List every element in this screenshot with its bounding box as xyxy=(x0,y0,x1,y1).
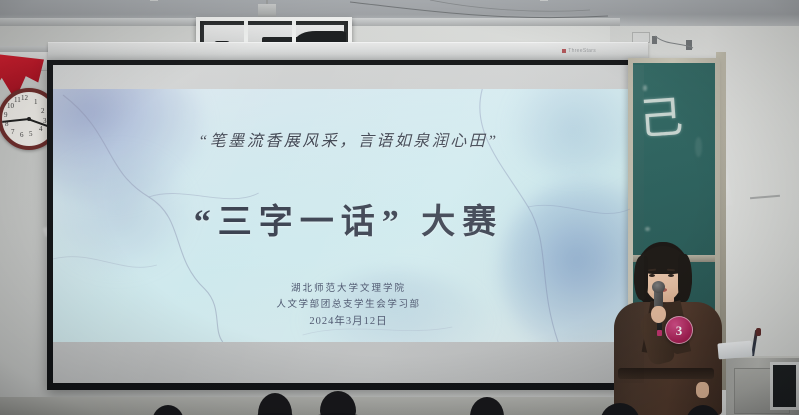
chalk-smudge xyxy=(645,227,650,231)
ceiling-wire-icon xyxy=(350,0,610,26)
projector-screen: “笔墨流香展风采，言语如泉润心田” “三字一话” 大赛 湖北师范大学文理学院 人… xyxy=(47,60,649,390)
clock-tick-7: 7 xyxy=(11,129,15,136)
clock-tick-6: 6 xyxy=(20,132,24,139)
presenter-hand-holding-microphone xyxy=(651,306,666,323)
slide-content: “笔墨流香展风采，言语如泉润心田” “三字一话” 大赛 湖北师范大学文理学院 人… xyxy=(53,89,644,342)
clock-tick-5: 5 xyxy=(29,131,33,138)
brand-dot-icon xyxy=(562,49,566,53)
microphone-head xyxy=(652,281,665,293)
wall-picture-frame xyxy=(770,362,799,410)
presenter-hair-right xyxy=(678,254,692,302)
presentation-slide: “笔墨流香展风采，言语如泉润心田” “三字一话” 大赛 湖北师范大学文理学院 人… xyxy=(53,89,644,342)
screen-brand-label: ThreeStars xyxy=(562,48,596,54)
screen-bracket-right xyxy=(540,0,548,1)
classroom-photo: 12 1 2 3 4 5 6 7 8 9 10 11 xyxy=(0,0,799,415)
slide-credit-organization: 湖北师范大学文理学院 xyxy=(53,280,644,294)
microphone-base-accent xyxy=(657,330,662,336)
chalk-smudge xyxy=(695,137,702,157)
slide-credit-date: 2024年3月12日 xyxy=(53,313,644,328)
projector-screen-surface: “笔墨流香展风采，言语如泉润心田” “三字一话” 大赛 湖北师范大学文理学院 人… xyxy=(53,65,644,383)
podium-papers xyxy=(717,341,752,360)
pointer-stick-tip xyxy=(756,328,761,336)
presenter-coat-belt xyxy=(618,368,714,379)
clock-tick-11: 11 xyxy=(14,97,21,104)
screen-bracket-left xyxy=(150,0,158,1)
slide-slogan: “笔墨流香展风采，言语如泉润心田” xyxy=(53,127,644,151)
clock-tick-1: 1 xyxy=(34,99,38,106)
clock-tick-10: 10 xyxy=(7,103,14,110)
ceiling-wire-right-icon xyxy=(655,34,695,54)
clock-tick-2: 2 xyxy=(41,108,45,115)
clock-tick-12: 12 xyxy=(21,95,28,102)
presenter-hand-lower xyxy=(696,382,709,398)
slide-credits: 湖北师范大学文理学院 人文学部团总支学生会学习部 2024年3月12日 xyxy=(53,280,644,328)
contestant-number-badge: 3 xyxy=(665,316,693,344)
clock-tick-9: 9 xyxy=(4,112,8,119)
slide-title: “三字一话” 大赛 xyxy=(53,194,644,243)
presenter-eye-right xyxy=(668,274,674,277)
badge-number: 3 xyxy=(676,324,683,337)
clock-center-pin xyxy=(27,117,31,121)
presenter-eye-left xyxy=(649,274,655,277)
blackboard-chalk-mark: 己 xyxy=(638,96,685,143)
clock-tick-4: 4 xyxy=(39,126,43,133)
slide-credit-department: 人文学部团总支学生会学习部 xyxy=(53,296,644,310)
